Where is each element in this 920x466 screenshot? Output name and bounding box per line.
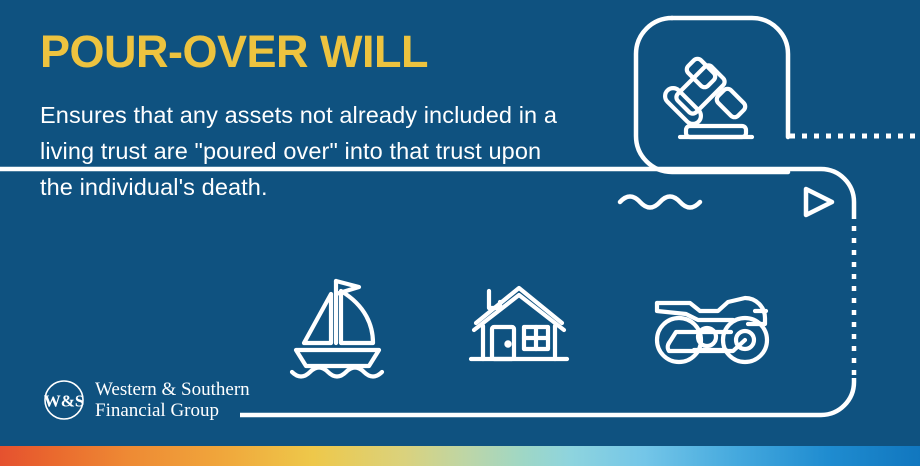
- gavel-frame-top: [672, 18, 788, 137]
- house-icon: [471, 288, 567, 359]
- play-triangle-icon: [806, 189, 832, 215]
- brand-line-2: Financial Group: [95, 400, 250, 421]
- svg-text:W&S: W&S: [44, 392, 85, 411]
- path-bottom-curve: [240, 378, 854, 415]
- page-title: POUR-OVER WILL: [40, 28, 428, 75]
- ws-monogram-icon: W&S: [42, 378, 86, 422]
- infographic-card: POUR-OVER WILL Ensures that any assets n…: [0, 0, 920, 466]
- sailboat-icon: [292, 281, 382, 377]
- description-text: Ensures that any assets not already incl…: [40, 98, 580, 206]
- bottom-gradient-bar: [0, 446, 920, 466]
- squiggle-icon: [620, 197, 700, 208]
- brand-line-1: Western & Southern: [95, 379, 250, 400]
- brand-wordmark: Western & Southern Financial Group: [95, 379, 250, 422]
- brand-logo: W&S Western & Southern Financial Group: [42, 378, 250, 422]
- gavel-frame-left: [636, 18, 788, 172]
- motorcycle-icon: [657, 298, 767, 362]
- gavel-icon: [662, 57, 752, 137]
